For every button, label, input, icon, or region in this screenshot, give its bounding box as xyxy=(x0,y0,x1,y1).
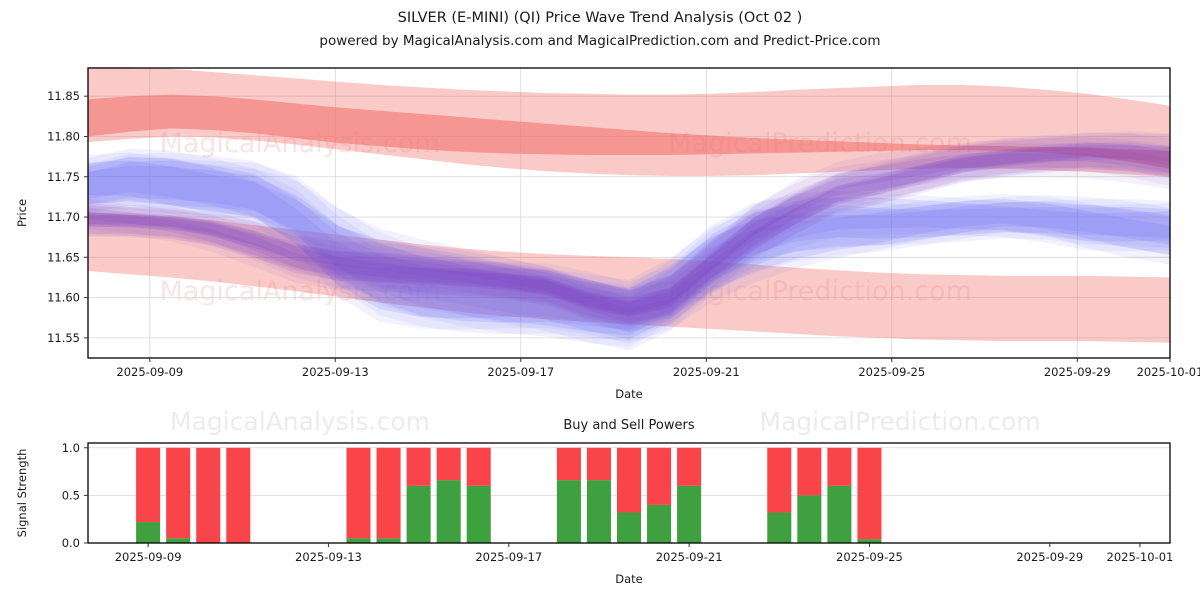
x-tick-label: 2025-09-21 xyxy=(656,550,723,564)
y-tick-label: 11.75 xyxy=(47,170,80,184)
bar-segment-sell[interactable] xyxy=(767,448,791,513)
bar-segment-sell[interactable] xyxy=(196,448,220,543)
watermark-text: MagicalAnalysis.com xyxy=(170,407,430,436)
bar-segment-sell[interactable] xyxy=(226,448,250,543)
bar-group[interactable] xyxy=(587,448,611,543)
x-tick-label: 2025-09-09 xyxy=(115,550,182,564)
bar-group[interactable] xyxy=(346,448,370,543)
bar-group[interactable] xyxy=(677,448,701,543)
bar-group[interactable] xyxy=(226,448,250,543)
bar-segment-buy[interactable] xyxy=(677,486,701,543)
y-tick-label: 11.55 xyxy=(47,331,80,345)
bar-segment-buy[interactable] xyxy=(346,538,370,543)
bar-segment-buy[interactable] xyxy=(557,480,581,543)
bar-segment-sell[interactable] xyxy=(647,448,671,505)
x-tick-label: 2025-09-17 xyxy=(487,365,554,379)
x-tick-label: 2025-09-25 xyxy=(836,550,903,564)
bar-segment-buy[interactable] xyxy=(407,486,431,543)
bar-group[interactable] xyxy=(647,448,671,543)
bar-segment-sell[interactable] xyxy=(136,448,160,522)
page-title: SILVER (E-MINI) (QI) Price Wave Trend An… xyxy=(398,10,803,26)
y-tick-label: 11.70 xyxy=(47,210,80,224)
bar-group[interactable] xyxy=(136,448,160,543)
x-tick-label: 2025-09-09 xyxy=(116,365,183,379)
bar-group[interactable] xyxy=(407,448,431,543)
bar-segment-buy[interactable] xyxy=(467,486,491,543)
bar-segment-buy[interactable] xyxy=(166,538,190,543)
x-axis-label: Date xyxy=(615,387,643,401)
bar-segment-buy[interactable] xyxy=(136,522,160,543)
x-tick-label: 2025-10-01 xyxy=(1137,365,1200,379)
y-tick-label: 0.0 xyxy=(62,536,80,550)
x-axis-label: Date xyxy=(615,572,643,586)
y-tick-label: 11.60 xyxy=(47,291,80,305)
x-tick-label: 2025-09-29 xyxy=(1044,365,1111,379)
bar-segment-sell[interactable] xyxy=(437,448,461,480)
bar-segment-buy[interactable] xyxy=(647,505,671,543)
bar-group[interactable] xyxy=(617,448,641,543)
bar-segment-sell[interactable] xyxy=(827,448,851,486)
x-tick-label: 2025-09-13 xyxy=(295,550,362,564)
bar-segment-sell[interactable] xyxy=(407,448,431,486)
bar-segment-sell[interactable] xyxy=(857,448,881,539)
y-tick-label: 0.5 xyxy=(62,488,80,502)
bar-segment-buy[interactable] xyxy=(767,513,791,543)
x-tick-label: 2025-09-25 xyxy=(858,365,925,379)
y-tick-label: 1.0 xyxy=(62,441,80,455)
bar-group[interactable] xyxy=(767,448,791,543)
x-tick-label: 2025-09-29 xyxy=(1016,550,1083,564)
panel-title: Buy and Sell Powers xyxy=(563,418,694,433)
bar-segment-sell[interactable] xyxy=(677,448,701,486)
bar-segment-buy[interactable] xyxy=(587,480,611,543)
bar-segment-buy[interactable] xyxy=(797,495,821,543)
bar-group[interactable] xyxy=(196,448,220,543)
bar-segment-buy[interactable] xyxy=(437,480,461,543)
bar-group[interactable] xyxy=(467,448,491,543)
bar-segment-buy[interactable] xyxy=(377,538,401,543)
bar-segment-sell[interactable] xyxy=(617,448,641,513)
chart-page: SILVER (E-MINI) (QI) Price Wave Trend An… xyxy=(0,0,1200,600)
bar-group[interactable] xyxy=(857,448,881,543)
bar-segment-sell[interactable] xyxy=(467,448,491,486)
bar-segment-sell[interactable] xyxy=(377,448,401,538)
x-tick-label: 2025-09-17 xyxy=(475,550,542,564)
y-tick-label: 11.85 xyxy=(47,89,80,103)
bar-segment-sell[interactable] xyxy=(557,448,581,480)
y-tick-label: 11.65 xyxy=(47,250,80,264)
bar-group[interactable] xyxy=(557,448,581,543)
bar-group[interactable] xyxy=(827,448,851,543)
bar-group[interactable] xyxy=(377,448,401,543)
page-subtitle: powered by MagicalAnalysis.com and Magic… xyxy=(319,33,880,49)
y-tick-label: 11.80 xyxy=(47,129,80,143)
figure-canvas: SILVER (E-MINI) (QI) Price Wave Trend An… xyxy=(0,0,1200,600)
bar-segment-buy[interactable] xyxy=(617,513,641,543)
x-tick-label: 2025-09-21 xyxy=(673,365,740,379)
x-tick-label: 2025-09-13 xyxy=(302,365,369,379)
watermark-text: MagicalPrediction.com xyxy=(759,407,1040,436)
bar-segment-sell[interactable] xyxy=(797,448,821,496)
x-tick-label: 2025-10-01 xyxy=(1107,550,1174,564)
y-axis-label: Price xyxy=(15,199,29,227)
bar-segment-sell[interactable] xyxy=(587,448,611,480)
y-axis-label: Signal Strength xyxy=(15,449,29,538)
bar-segment-buy[interactable] xyxy=(827,486,851,543)
bar-segment-sell[interactable] xyxy=(166,448,190,538)
bar-group[interactable] xyxy=(437,448,461,543)
bar-segment-sell[interactable] xyxy=(346,448,370,538)
bar-group[interactable] xyxy=(797,448,821,543)
bar-group[interactable] xyxy=(166,448,190,543)
